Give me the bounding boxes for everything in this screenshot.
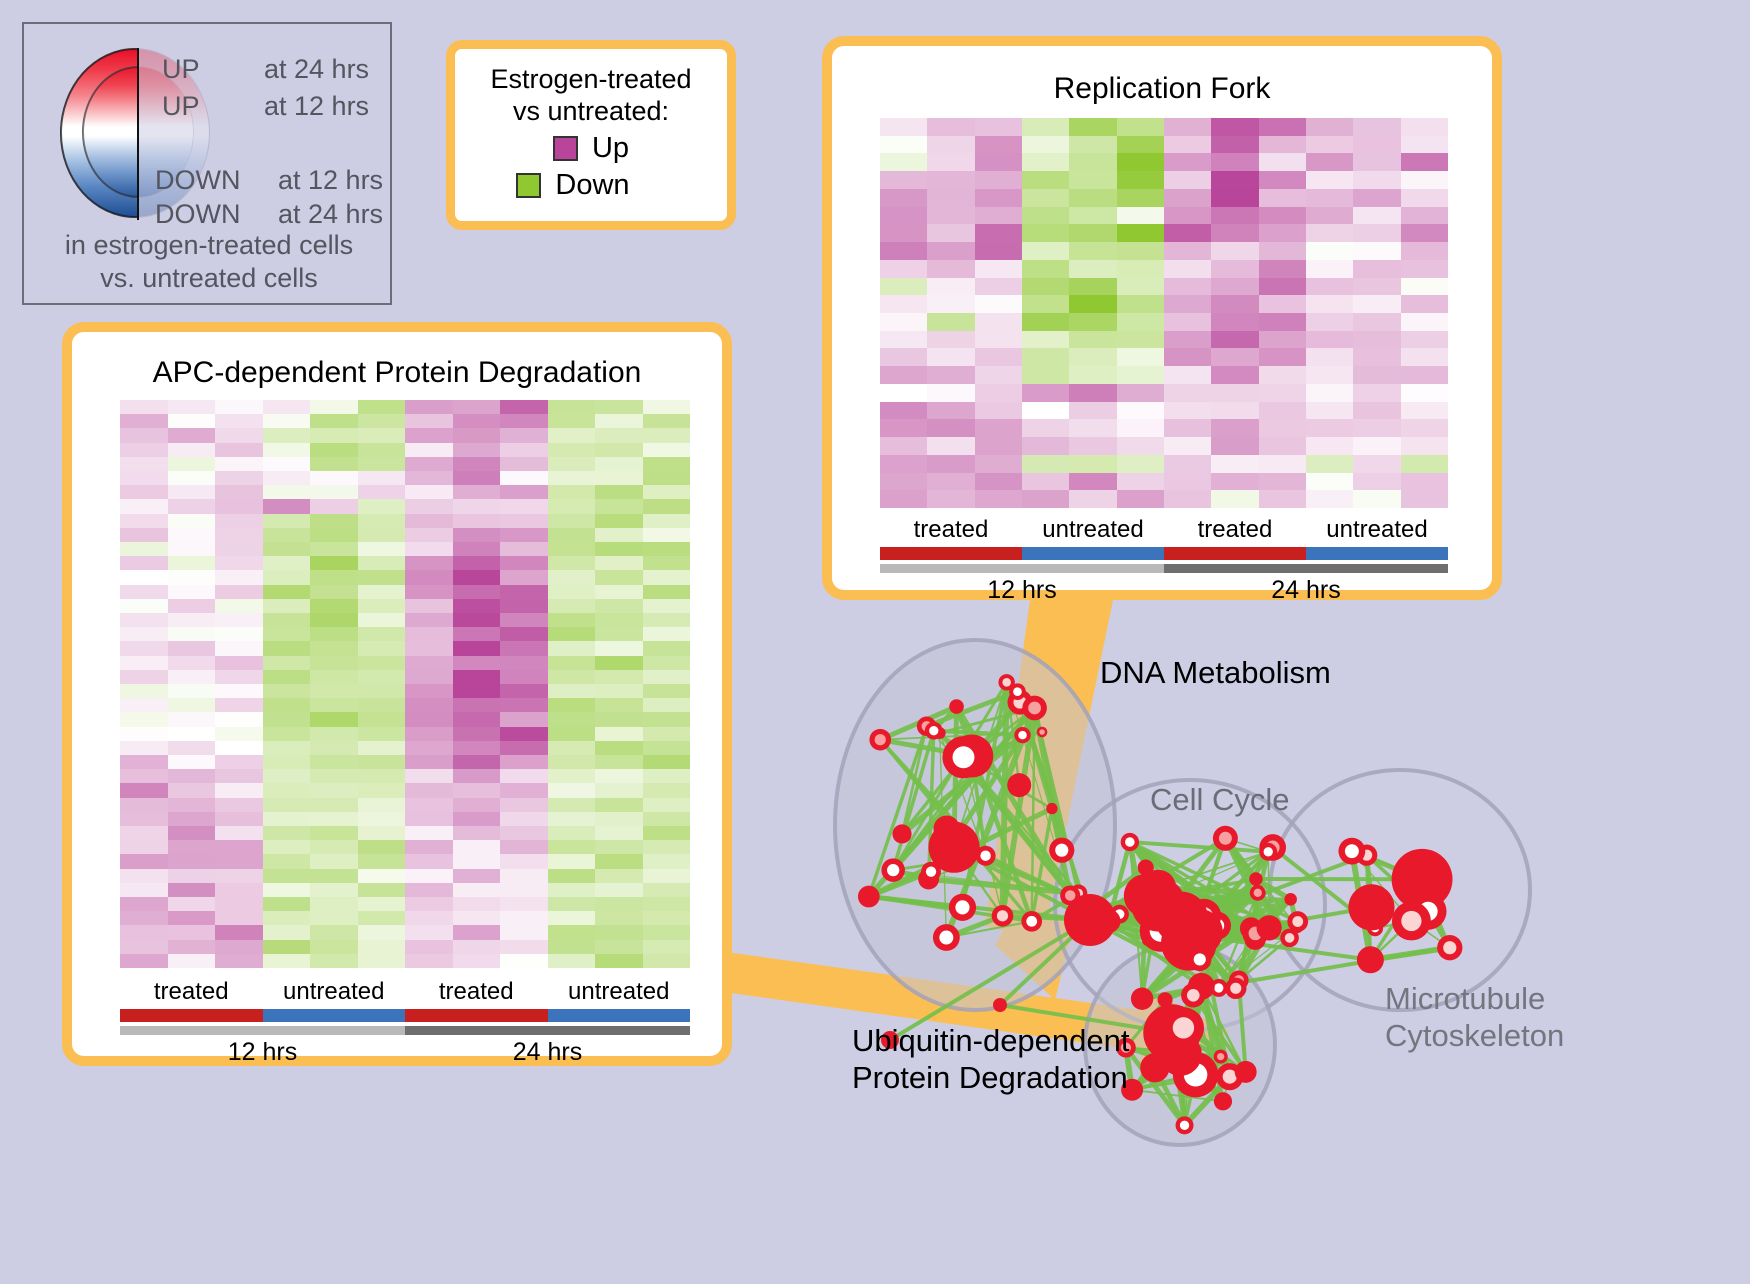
heatmap-cell [880, 278, 927, 296]
heatmap-cell [358, 457, 406, 471]
heatmap-cell [1306, 366, 1353, 384]
heatmap-cell [310, 741, 358, 755]
heatmap-cell [120, 528, 168, 542]
heatmap-cell [215, 542, 263, 556]
heatmap-cell [405, 599, 453, 613]
heatmap-cell [1069, 295, 1116, 313]
heatmap-cell [548, 499, 596, 513]
heatmap-cell [215, 627, 263, 641]
key-header: Estrogen-treated vs untreated: [490, 63, 691, 128]
heatmap-cell [927, 437, 974, 455]
heatmap-cell [548, 783, 596, 797]
heatmap-cell [215, 755, 263, 769]
heatmap-cell [168, 656, 216, 670]
heatmap-cell [263, 414, 311, 428]
heatmap-cell [548, 911, 596, 925]
heatmap-cell [1022, 455, 1069, 473]
heatmap-cell [405, 627, 453, 641]
heatmap-cell [263, 684, 311, 698]
heatmap-cell [120, 641, 168, 655]
heatmap-cell [120, 783, 168, 797]
heatmap-cell [1117, 242, 1164, 260]
heatmap-cell [1353, 366, 1400, 384]
heatmap-cell [1164, 490, 1211, 508]
heatmap-cell [1117, 419, 1164, 437]
heatmap-cell [595, 670, 643, 684]
heatmap-cell [1022, 189, 1069, 207]
network-node [1284, 893, 1297, 906]
heatmap-cell [1164, 278, 1211, 296]
heatmap-cell [120, 542, 168, 556]
network-node [1121, 833, 1139, 851]
heatmap-cell [643, 670, 691, 684]
heatmap-cell [263, 400, 311, 414]
heatmap-cell [168, 471, 216, 485]
heatmap-cell [1069, 278, 1116, 296]
cluster-label-cell-cycle: Cell Cycle [1150, 782, 1290, 818]
heatmap-cell [358, 755, 406, 769]
heatmap-cell [1306, 189, 1353, 207]
heatmap-cell [168, 570, 216, 584]
heatmap-cell [1117, 366, 1164, 384]
heatmap-cell [1306, 437, 1353, 455]
heatmap-cell [1117, 331, 1164, 349]
heatmap-cell [405, 656, 453, 670]
heatmap-cell [310, 443, 358, 457]
heatmap-cell [1164, 171, 1211, 189]
heatmap-cell [595, 443, 643, 457]
heatmap-cell [453, 627, 501, 641]
heatmap-cell [168, 684, 216, 698]
heatmap-cell [358, 670, 406, 684]
heatmap-cell [1353, 136, 1400, 154]
heatmap-cell [1211, 189, 1258, 207]
heatmap-cell [548, 798, 596, 812]
heatmap-cell [975, 331, 1022, 349]
heatmap-cell [263, 783, 311, 797]
heatmap-cell [263, 940, 311, 954]
heatmap-cell [500, 755, 548, 769]
heatmap-cell [453, 883, 501, 897]
heatmap-cell [358, 783, 406, 797]
heatmap-cell [1164, 295, 1211, 313]
network-node [976, 846, 996, 866]
heatmap-cell [1022, 313, 1069, 331]
heatmap-cell [1306, 260, 1353, 278]
network-node [1014, 727, 1030, 743]
heatmap-cell [310, 712, 358, 726]
heatmap-cell [405, 641, 453, 655]
heatmap-cell [595, 570, 643, 584]
heatmap-cell [927, 455, 974, 473]
heatmap-cell [215, 514, 263, 528]
heatmap-cell [975, 419, 1022, 437]
replication-fork-axis: treated untreated treated untreated 12 h… [880, 516, 1448, 605]
heatmap-cell [1117, 224, 1164, 242]
heatmap-cell [1211, 490, 1258, 508]
heatmap-cell [168, 499, 216, 513]
network-node [1131, 877, 1185, 931]
heatmap-cell [880, 153, 927, 171]
heatmap-cell [1401, 473, 1448, 491]
heatmap-cell [1211, 153, 1258, 171]
heatmap-cell [548, 485, 596, 499]
group-bar-0 [880, 547, 1022, 560]
heatmap-cell [453, 755, 501, 769]
heatmap-cell [168, 585, 216, 599]
heatmap-cell [120, 727, 168, 741]
heatmap-cell [453, 485, 501, 499]
heatmap-cell [1069, 153, 1116, 171]
circular-legend-box: UP at 24 hrs UP at 12 hrs DOWN at 12 hrs… [22, 22, 392, 305]
heatmap-cell [215, 826, 263, 840]
heatmap-cell [263, 485, 311, 499]
heatmap-cell [1069, 136, 1116, 154]
heatmap-cell [975, 136, 1022, 154]
apc-axis: treated untreated treated untreated 12 h… [120, 978, 690, 1067]
heatmap-cell [358, 812, 406, 826]
heatmap-cell [310, 925, 358, 939]
heatmap-cell [643, 925, 691, 939]
heatmap-cell [120, 897, 168, 911]
heatmap-cell [1401, 331, 1448, 349]
heatmap-cell [263, 499, 311, 513]
heatmap-cell [215, 684, 263, 698]
heatmap-cell [1069, 331, 1116, 349]
heatmap-cell [643, 783, 691, 797]
heatmap-cell [927, 419, 974, 437]
legend-time-down-12: at 12 hrs [278, 165, 383, 196]
heatmap-cell [880, 348, 927, 366]
heatmap-cell [548, 755, 596, 769]
heatmap-cell [358, 741, 406, 755]
heatmap-cell [310, 514, 358, 528]
heatmap-cell [310, 826, 358, 840]
replication-group-colorbar [880, 547, 1448, 560]
heatmap-cell [120, 457, 168, 471]
heatmap-cell [1069, 313, 1116, 331]
heatmap-cell [1069, 224, 1116, 242]
heatmap-cell [1259, 331, 1306, 349]
heatmap-cell [310, 471, 358, 485]
heatmap-cell [500, 883, 548, 897]
heatmap-cell [595, 428, 643, 442]
heatmap-cell [215, 783, 263, 797]
heatmap-cell [500, 485, 548, 499]
heatmap-cell [215, 400, 263, 414]
heatmap-cell [453, 542, 501, 556]
heatmap-cell [1306, 118, 1353, 136]
heatmap-cell [263, 727, 311, 741]
heatmap-cell [453, 840, 501, 854]
heatmap-cell [120, 925, 168, 939]
heatmap-cell [310, 840, 358, 854]
heatmap-cell [643, 457, 691, 471]
heatmap-cell [358, 599, 406, 613]
heatmap-cell [263, 712, 311, 726]
heatmap-cell [1259, 313, 1306, 331]
heatmap-cell [500, 684, 548, 698]
heatmap-cell [1353, 313, 1400, 331]
heatmap-cell [595, 656, 643, 670]
up-down-key-box: Estrogen-treated vs untreated: Up Down [446, 40, 736, 230]
heatmap-cell [405, 698, 453, 712]
heatmap-cell [310, 400, 358, 414]
time-label-24: 24 hrs [1164, 576, 1448, 605]
heatmap-cell [1117, 153, 1164, 171]
heatmap-cell [1117, 189, 1164, 207]
heatmap-cell [120, 400, 168, 414]
heatmap-cell [500, 570, 548, 584]
heatmap-cell [595, 897, 643, 911]
heatmap-cell [168, 443, 216, 457]
heatmap-cell [1353, 171, 1400, 189]
heatmap-cell [1306, 207, 1353, 225]
heatmap-cell [358, 414, 406, 428]
heatmap-cell [453, 954, 501, 968]
heatmap-cell [643, 414, 691, 428]
heatmap-cell [643, 954, 691, 968]
heatmap-cell [453, 585, 501, 599]
heatmap-cell [1164, 437, 1211, 455]
heatmap-cell [310, 627, 358, 641]
heatmap-cell [643, 897, 691, 911]
network-node [1046, 803, 1057, 814]
heatmap-cell [168, 712, 216, 726]
heatmap-cell [643, 727, 691, 741]
heatmap-cell [168, 840, 216, 854]
heatmap-cell [500, 556, 548, 570]
heatmap-cell [310, 798, 358, 812]
heatmap-cell [453, 641, 501, 655]
heatmap-cell [927, 331, 974, 349]
heatmap-cell [453, 684, 501, 698]
heatmap-cell [1353, 348, 1400, 366]
heatmap-cell [1353, 260, 1400, 278]
heatmap-cell [1211, 171, 1258, 189]
heatmap-cell [643, 741, 691, 755]
heatmap-cell [453, 499, 501, 513]
heatmap-cell [1117, 295, 1164, 313]
heatmap-cell [310, 670, 358, 684]
network-node [1009, 683, 1026, 700]
key-row-down: Down [516, 169, 629, 202]
network-node [881, 858, 905, 882]
heatmap-cell [1211, 473, 1258, 491]
heatmap-cell [500, 698, 548, 712]
heatmap-cell [1164, 260, 1211, 278]
heatmap-cell [453, 727, 501, 741]
heatmap-cell [1259, 224, 1306, 242]
heatmap-cell [310, 869, 358, 883]
heatmap-cell [1069, 366, 1116, 384]
heatmap-cell [453, 670, 501, 684]
heatmap-cell [500, 599, 548, 613]
heatmap-cell [1259, 348, 1306, 366]
microtubule-line2: Cytoskeleton [1385, 1017, 1564, 1054]
heatmap-cell [643, 514, 691, 528]
heatmap-cell [643, 684, 691, 698]
heatmap-cell [1211, 419, 1258, 437]
network-node [1235, 1061, 1257, 1083]
heatmap-cell [215, 698, 263, 712]
heatmap-cell [310, 698, 358, 712]
heatmap-cell [358, 698, 406, 712]
heatmap-cell [1022, 437, 1069, 455]
heatmap-cell [1022, 366, 1069, 384]
cluster-label-dna-metabolism: DNA Metabolism [1100, 655, 1331, 691]
heatmap-cell [168, 769, 216, 783]
network-node [1176, 1116, 1194, 1134]
legend-time-down-24: at 24 hrs [278, 199, 383, 230]
heatmap-cell [453, 428, 501, 442]
heatmap-cell [880, 490, 927, 508]
heatmap-cell [453, 599, 501, 613]
heatmap-cell [1353, 384, 1400, 402]
network-node [993, 998, 1007, 1012]
heatmap-cell [453, 528, 501, 542]
heatmap-cell [1353, 207, 1400, 225]
heatmap-cell [500, 585, 548, 599]
heatmap-cell [1306, 331, 1353, 349]
heatmap-cell [405, 883, 453, 897]
network-node [933, 924, 960, 951]
heatmap-cell [453, 698, 501, 712]
heatmap-cell [358, 798, 406, 812]
heatmap-cell [215, 727, 263, 741]
heatmap-cell [358, 528, 406, 542]
heatmap-cell [500, 954, 548, 968]
heatmap-cell [168, 783, 216, 797]
heatmap-cell [1353, 331, 1400, 349]
heatmap-cell [1306, 384, 1353, 402]
heatmap-cell [1069, 402, 1116, 420]
network-node [1392, 901, 1431, 940]
network-node [1037, 727, 1048, 738]
heatmap-cell [975, 242, 1022, 260]
heatmap-cell [263, 869, 311, 883]
heatmap-cell [1306, 473, 1353, 491]
heatmap-cell [405, 670, 453, 684]
heatmap-cell [405, 457, 453, 471]
heatmap-cell [1401, 384, 1448, 402]
heatmap-cell [120, 570, 168, 584]
heatmap-cell [168, 911, 216, 925]
replication-time-labels: 12 hrs 24 hrs [880, 576, 1448, 605]
heatmap-cell [1211, 207, 1258, 225]
heatmap-cell [453, 570, 501, 584]
heatmap-cell [500, 727, 548, 741]
heatmap-cell [500, 670, 548, 684]
heatmap-cell [358, 826, 406, 840]
heatmap-cell [975, 207, 1022, 225]
key-label-down: Down [555, 169, 629, 202]
heatmap-cell [880, 473, 927, 491]
heatmap-cell [358, 712, 406, 726]
heatmap-cell [263, 528, 311, 542]
heatmap-cell [215, 869, 263, 883]
heatmap-cell [500, 769, 548, 783]
heatmap-cell [927, 402, 974, 420]
down-swatch-icon [516, 173, 541, 198]
heatmap-cell [643, 854, 691, 868]
heatmap-cell [120, 954, 168, 968]
heatmap-cell [500, 940, 548, 954]
heatmap-cell [168, 812, 216, 826]
heatmap-cell [643, 798, 691, 812]
heatmap-cell [880, 313, 927, 331]
heatmap-cell [1117, 402, 1164, 420]
heatmap-cell [595, 585, 643, 599]
heatmap-cell [120, 499, 168, 513]
heatmap-cell [215, 457, 263, 471]
heatmap-cell [405, 400, 453, 414]
heatmap-cell [500, 925, 548, 939]
heatmap-cell [120, 798, 168, 812]
heatmap-cell [595, 954, 643, 968]
heatmap-cell [120, 443, 168, 457]
network-node [1214, 1050, 1228, 1064]
time-bar-12 [120, 1026, 405, 1035]
apc-group-colorbar [120, 1009, 690, 1022]
heatmap-cell [358, 940, 406, 954]
heatmap-cell [310, 414, 358, 428]
heatmap-cell [120, 712, 168, 726]
heatmap-cell [1069, 260, 1116, 278]
heatmap-cell [1022, 260, 1069, 278]
heatmap-cell [548, 840, 596, 854]
heatmap-cell [1401, 153, 1448, 171]
heatmap-cell [1164, 118, 1211, 136]
heatmap-cell [880, 207, 927, 225]
heatmap-cell [120, 599, 168, 613]
heatmap-cell [1211, 242, 1258, 260]
heatmap-cell [215, 428, 263, 442]
heatmap-cell [880, 118, 927, 136]
network-node [1188, 948, 1211, 971]
heatmap-cell [120, 869, 168, 883]
replication-time-colorbar [880, 564, 1448, 573]
group-bar-3 [548, 1009, 691, 1022]
heatmap-cell [1353, 437, 1400, 455]
heatmap-cell [1164, 313, 1211, 331]
heatmap-cell [120, 471, 168, 485]
heatmap-cell [975, 171, 1022, 189]
heatmap-cell [1401, 171, 1448, 189]
heatmap-cell [215, 670, 263, 684]
heatmap-cell [1353, 419, 1400, 437]
heatmap-cell [975, 153, 1022, 171]
heatmap-cell [168, 542, 216, 556]
group-label-0: treated [880, 516, 1022, 544]
heatmap-cell [405, 798, 453, 812]
heatmap-cell [120, 826, 168, 840]
heatmap-cell [310, 457, 358, 471]
heatmap-cell [168, 528, 216, 542]
heatmap-cell [358, 883, 406, 897]
heatmap-cell [548, 641, 596, 655]
legend-footer: in estrogen-treated cells vs. untreated … [24, 229, 394, 295]
heatmap-cell [1259, 384, 1306, 402]
heatmap-cell [975, 437, 1022, 455]
network-node [942, 736, 984, 778]
heatmap-cell [1401, 189, 1448, 207]
network-node [1249, 872, 1262, 885]
heatmap-cell [453, 940, 501, 954]
heatmap-cell [643, 712, 691, 726]
heatmap-cell [880, 295, 927, 313]
heatmap-cell [880, 366, 927, 384]
